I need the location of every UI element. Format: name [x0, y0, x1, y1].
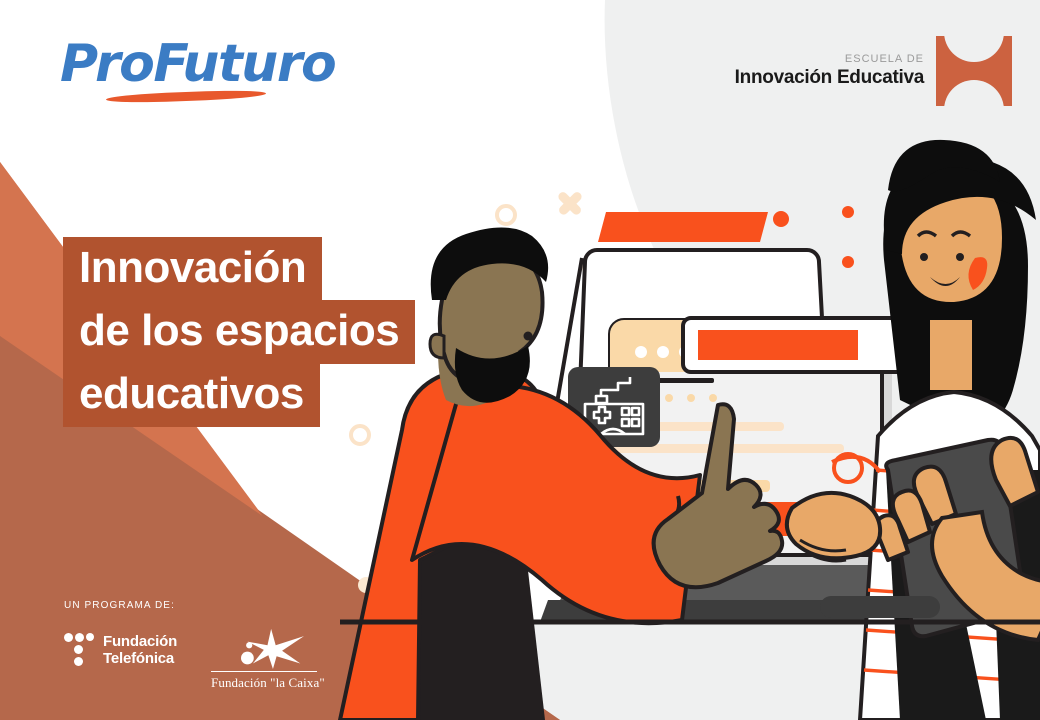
escuela-name: Innovación Educativa [735, 66, 924, 89]
poster-root: ProFuturo ESCUELA DE Innovación Educativ… [0, 0, 1040, 720]
telefonica-line-1: Fundación [103, 633, 177, 650]
woman-neck [930, 320, 972, 390]
decor-dot-4 [842, 206, 854, 218]
caixa-star-icon [220, 627, 308, 669]
decor-dot-5 [842, 256, 854, 268]
escuela-kicker: ESCUELA DE [735, 53, 924, 66]
woman-eye-left [920, 253, 928, 261]
titlebar-dot-2 [657, 346, 669, 358]
fundacion-la-caixa-logo[interactable]: Fundación "la Caixa" [211, 627, 317, 690]
escuela-text-group: ESCUELA DE Innovación Educativa [735, 53, 924, 89]
page-title: Innovación de los espacios educativos [63, 237, 415, 427]
man-ear [430, 334, 444, 358]
title-line-2: de los espacios [63, 300, 415, 364]
banner-bar-top [598, 212, 768, 242]
title-line-3: educativos [63, 363, 320, 427]
title-line-1: Innovación [63, 237, 322, 301]
telefonica-wordmark: Fundación Telefónica [103, 633, 177, 667]
x-hourglass-icon [936, 36, 1012, 106]
floating-card-block [698, 330, 858, 360]
profuturo-wordmark: ProFuturo [60, 36, 340, 92]
fundacion-telefonica-logo[interactable]: Fundación Telefónica [64, 633, 177, 667]
titlebar-dot-1 [635, 346, 647, 358]
telefonica-dots-icon [64, 633, 94, 667]
decor-dot-3 [773, 211, 789, 227]
telefonica-line-2: Telefónica [103, 650, 177, 667]
caixa-wordmark: Fundación "la Caixa" [211, 675, 317, 690]
profuturo-logo[interactable]: ProFuturo [60, 36, 340, 108]
woman-eye-right [956, 253, 964, 261]
footer-kicker: UN PROGRAMA DE: [64, 600, 317, 611]
man-eye [524, 332, 533, 341]
escuela-lockup[interactable]: ESCUELA DE Innovación Educativa [735, 36, 1012, 106]
laptop-foot [820, 596, 940, 618]
footer: UN PROGRAMA DE: Fundación Telefónica [64, 600, 317, 690]
caixa-divider [211, 671, 317, 672]
footer-logos: Fundación Telefónica Fundación "la Caixa… [64, 627, 317, 690]
